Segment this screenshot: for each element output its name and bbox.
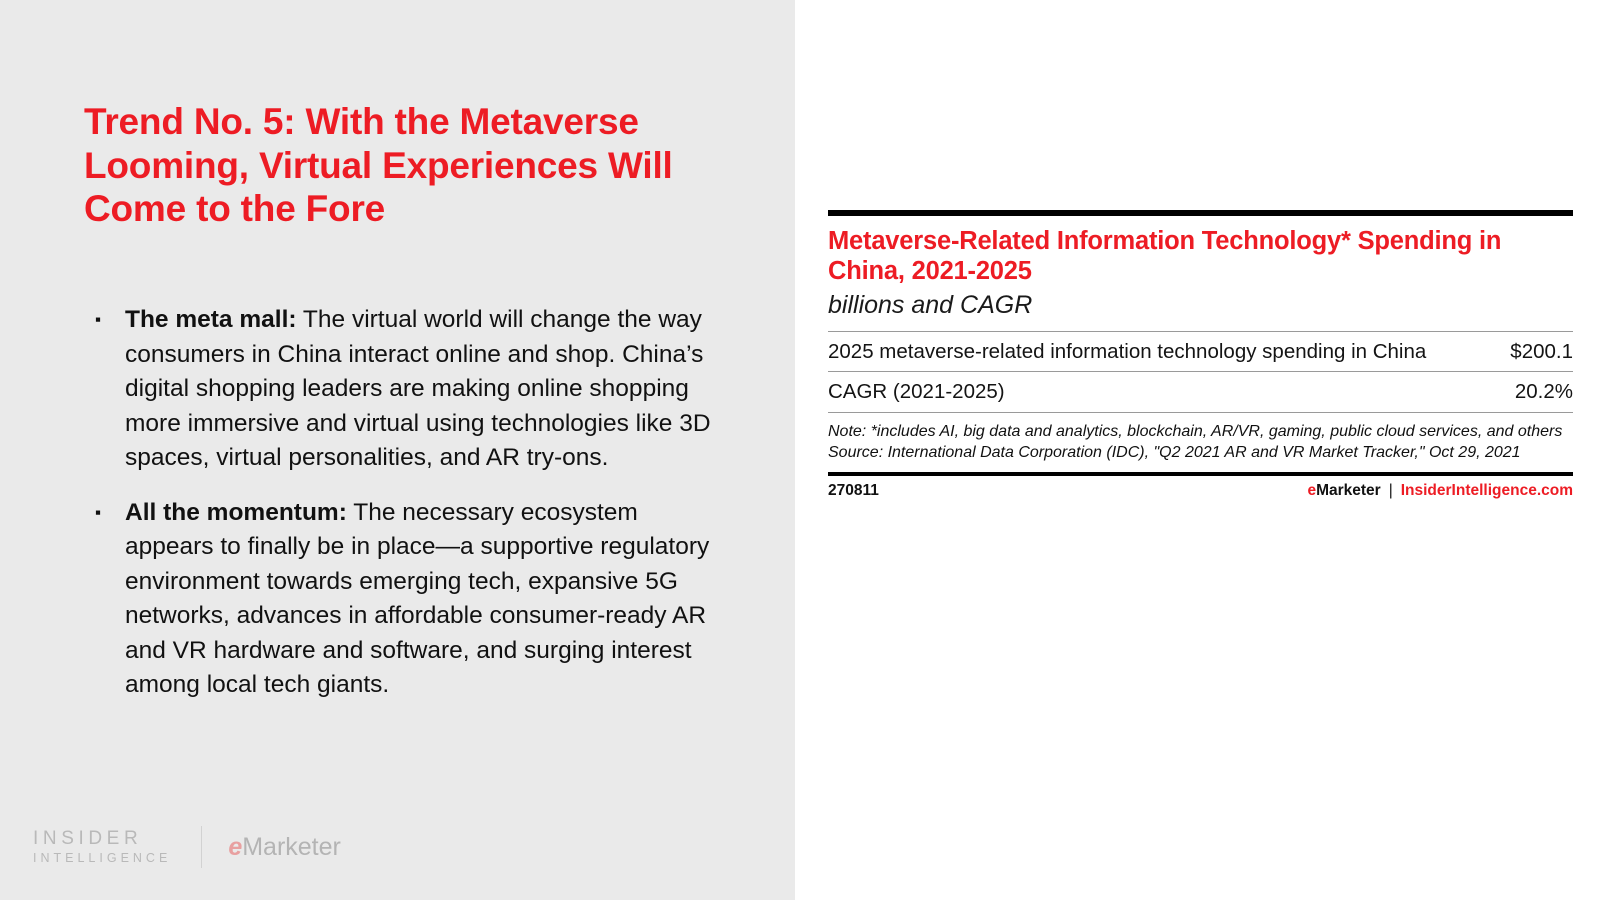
report-id: 270811 <box>828 482 879 500</box>
brand-logo-footer: INSIDER INTELLIGENCE eMarketer <box>33 825 341 869</box>
emarketer-logo-e: e <box>228 833 242 861</box>
note-text: Note: *includes AI, big data and analyti… <box>828 422 1573 442</box>
row-label: CAGR (2021-2025) <box>828 372 1502 412</box>
chart-card: Metaverse-Related Information Technology… <box>828 210 1573 500</box>
card-bottom-rule <box>828 472 1573 476</box>
logo-divider <box>201 826 202 868</box>
chart-subtitle: billions and CAGR <box>828 290 1573 320</box>
footer-emarketer-rest: Marketer <box>1316 482 1381 499</box>
square-bullet-icon: ▪ <box>95 496 125 703</box>
square-bullet-icon: ▪ <box>95 303 125 476</box>
bullet-text: The meta mall: The virtual world will ch… <box>125 303 715 476</box>
emarketer-logo: eMarketer <box>228 833 341 862</box>
footer-brand: eMarketer | InsiderIntelligence.com <box>1307 482 1573 500</box>
emarketer-logo-rest: Marketer <box>242 833 341 861</box>
insider-intelligence-logo: INSIDER INTELLIGENCE <box>33 828 171 866</box>
left-content-panel: Trend No. 5: With the Metaverse Looming,… <box>0 0 795 900</box>
row-label: 2025 metaverse-related information techn… <box>828 331 1502 372</box>
card-top-rule <box>828 210 1573 216</box>
footer-emarketer-logo: eMarketer <box>1307 482 1380 500</box>
insider-logo-line1: INSIDER <box>33 828 171 850</box>
footer-emarketer-e: e <box>1307 482 1316 499</box>
bullet-lead: The meta mall: <box>125 306 297 333</box>
slide-root: Trend No. 5: With the Metaverse Looming,… <box>0 0 1600 900</box>
source-text: Source: International Data Corporation (… <box>828 443 1573 463</box>
bullet-body: The necessary ecosystem appears to final… <box>125 499 709 699</box>
list-item: ▪ All the momentum: The necessary ecosys… <box>95 496 715 703</box>
bullet-lead: All the momentum: <box>125 499 347 526</box>
page-title: Trend No. 5: With the Metaverse Looming,… <box>84 100 724 231</box>
row-value: 20.2% <box>1502 372 1573 412</box>
list-item: ▪ The meta mall: The virtual world will … <box>95 303 715 476</box>
table-row: 2025 metaverse-related information techn… <box>828 331 1573 372</box>
data-table: 2025 metaverse-related information techn… <box>828 331 1573 412</box>
bullet-list: ▪ The meta mall: The virtual world will … <box>95 303 715 723</box>
row-value: $200.1 <box>1502 331 1573 372</box>
insider-logo-line2: INTELLIGENCE <box>33 850 171 866</box>
footer-website-link[interactable]: InsiderIntelligence.com <box>1401 482 1573 500</box>
chart-title: Metaverse-Related Information Technology… <box>828 227 1573 287</box>
bullet-text: All the momentum: The necessary ecosyste… <box>125 496 715 703</box>
card-footer: 270811 eMarketer | InsiderIntelligence.c… <box>828 482 1573 500</box>
table-row: CAGR (2021-2025) 20.2% <box>828 372 1573 412</box>
table-bottom-rule <box>828 412 1573 413</box>
footnotes: Note: *includes AI, big data and analyti… <box>828 422 1573 463</box>
footer-separator: | <box>1389 482 1393 500</box>
